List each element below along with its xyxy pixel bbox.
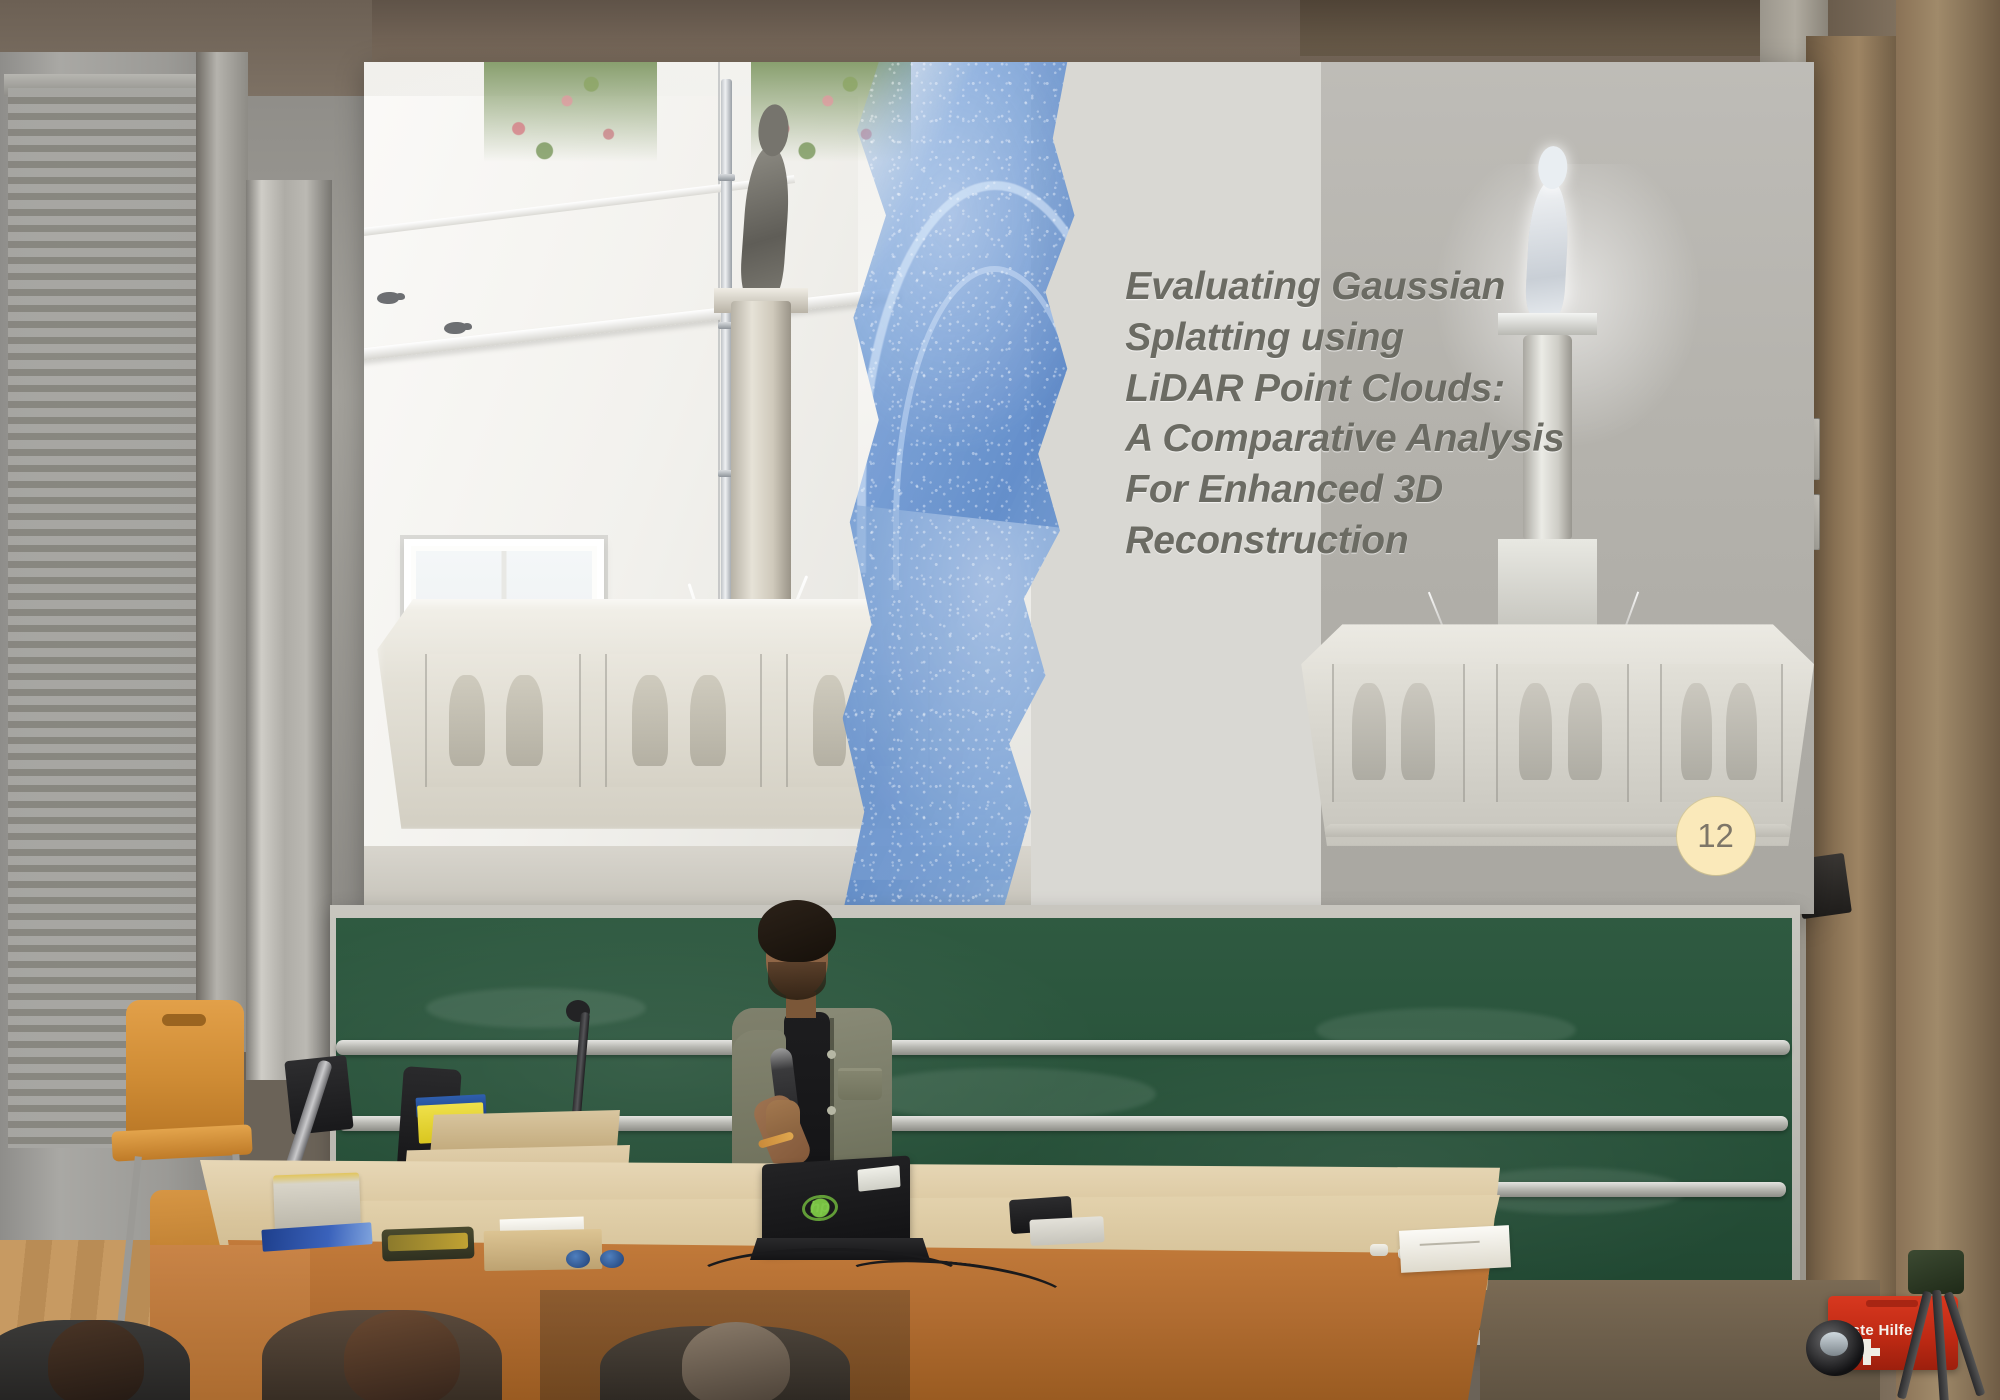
- relief-panel-2: [605, 654, 761, 787]
- relief-figure-3: [632, 675, 668, 766]
- handout-fold-line: [1420, 1241, 1480, 1246]
- printed-handout: [1399, 1225, 1511, 1273]
- slide-title: Evaluating Gaussian Splatting using LiDA…: [1125, 262, 1792, 566]
- recon-relief-figure-4: [1568, 683, 1602, 779]
- flower-box-left: [484, 62, 657, 173]
- recon-relief-panel-2: [1496, 664, 1629, 801]
- audience-head-2: [344, 1310, 460, 1400]
- tripod-leg-1: [1897, 1291, 1932, 1400]
- recon-relief-figure-1: [1352, 683, 1386, 779]
- recon-relief-panel-3: [1660, 664, 1783, 801]
- left-column: [246, 180, 332, 1080]
- shirt-button-1: [827, 1050, 836, 1059]
- chair-handle-slot: [162, 1014, 206, 1026]
- chair-backrest[interactable]: [126, 1000, 244, 1140]
- board-rail-upper: [336, 1040, 1790, 1055]
- relief-figure-4: [690, 675, 726, 766]
- radiator-grille: [8, 88, 208, 1148]
- relief-figure-1: [449, 675, 485, 766]
- slide-page-badge: 12: [1677, 797, 1755, 875]
- presenter-beard: [768, 962, 826, 1000]
- ceiling-beam: [1300, 0, 1840, 56]
- pipe-band-1: [718, 174, 735, 181]
- pigeon-1: [377, 292, 399, 304]
- tripod-leg-2: [1932, 1290, 1949, 1400]
- recon-relief-figure-5: [1681, 683, 1712, 779]
- right-door-frame: [1806, 36, 1902, 1306]
- lamp-lens: [1820, 1332, 1848, 1356]
- presenter-hair: [758, 900, 836, 962]
- relief-figure-2: [506, 675, 542, 766]
- slide-page-number: 12: [1697, 817, 1734, 855]
- eyeglasses: [566, 1250, 624, 1270]
- pigeon-2: [444, 322, 466, 334]
- tripod-head: [1908, 1250, 1964, 1294]
- studio-lamp-head: [1806, 1320, 1864, 1376]
- projection-screen: Evaluating Gaussian Splatting using LiDA…: [364, 62, 1814, 914]
- recon-relief-figure-2: [1401, 683, 1435, 779]
- power-brick: [1029, 1216, 1104, 1246]
- right-wood-trim: [1896, 0, 2000, 1400]
- wall-seam: [196, 52, 248, 1052]
- chalk-smudge-2: [856, 1068, 1156, 1120]
- pen-tray: [381, 1226, 474, 1261]
- tripod-leg-3: [1944, 1291, 1986, 1396]
- relief-panel-1: [425, 654, 581, 787]
- recon-relief-figure-6: [1726, 683, 1757, 779]
- hp-logo-icon: hp: [802, 1194, 838, 1222]
- camera-tripod: [1890, 1250, 2000, 1400]
- presenter-shirt-pocket: [838, 1068, 882, 1100]
- pen-tray-insert: [388, 1233, 469, 1252]
- lecture-hall-scene: Evaluating Gaussian Splatting using LiDA…: [0, 0, 2000, 1400]
- lens-left: [566, 1250, 590, 1268]
- shirt-button-2: [827, 1106, 836, 1115]
- chalk-smudge-1: [426, 988, 646, 1028]
- lens-right: [600, 1250, 624, 1268]
- presentation-slide: Evaluating Gaussian Splatting using LiDA…: [364, 62, 1814, 914]
- recon-relief-panel-1: [1332, 664, 1465, 801]
- laptop-lid[interactable]: hp: [762, 1155, 910, 1252]
- audience-head-3: [682, 1322, 790, 1400]
- laptop-sticker: [857, 1165, 900, 1192]
- recon-relief-figure-3: [1519, 683, 1553, 779]
- small-object-1: [1370, 1244, 1388, 1256]
- relief-figure-5: [813, 675, 847, 766]
- audience-head-1: [48, 1320, 144, 1400]
